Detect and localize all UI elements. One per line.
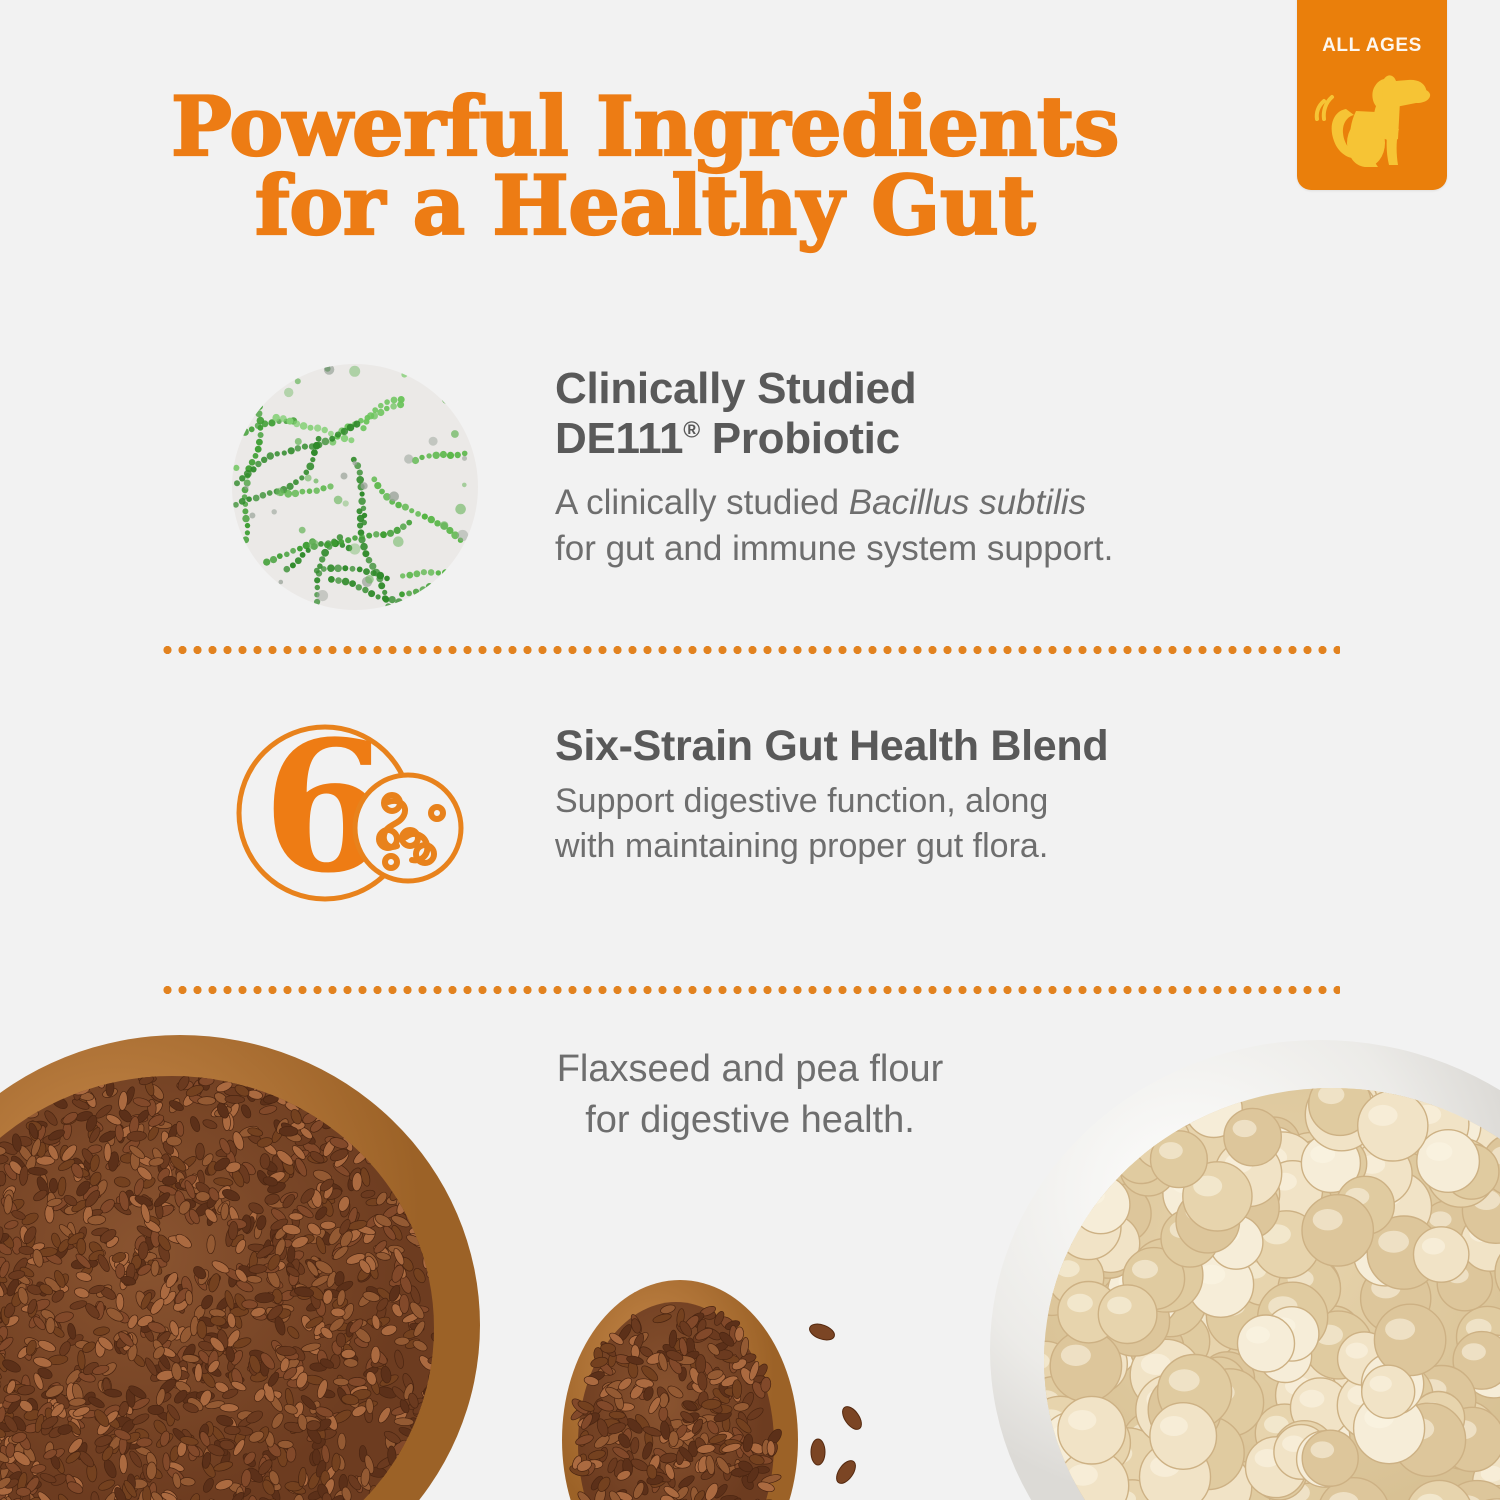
flaxseed-wooden-bowl [0,1035,480,1500]
divider-1 [160,646,1340,654]
ingredient-photo-band [0,1020,1500,1500]
all-ages-label: ALL AGES [1322,36,1422,55]
page-title: Powerful Ingredients for a Healthy Gut [0,88,1290,247]
feature-1-body: A clinically studied Bacillus subtilis f… [555,480,1113,571]
sitting-dog-icon [1312,61,1432,184]
feature-1-title-line-1: Clinically Studied [555,364,916,413]
feature-1-title-line-2-rest: Probiotic [700,414,900,463]
feature-1-text: Clinically Studied DE111® Probiotic A cl… [555,360,1113,571]
registered-trademark-icon: ® [683,417,700,443]
infographic-canvas: ALL AGES [0,0,1500,1500]
flaxseed-wooden-spoon [562,1280,865,1500]
headline-line-2: for a Healthy Gut [0,167,1290,246]
feature-2-title: Six-Strain Gut Health Blend [555,722,1108,771]
feature-six-strain: 6 Six-Strain Gut Health Blend Support di… [155,718,1108,918]
feature-1-title: Clinically Studied DE111® Probiotic [555,364,1113,464]
feature-2-body-line-1: Support digestive function, along [555,782,1048,820]
feature-1-title-line-2: DE111 [555,414,683,463]
feature-1-body-pre: A clinically studied [555,483,849,522]
feature-1-body-species: Bacillus subtilis [849,483,1086,522]
feature-2-text: Six-Strain Gut Health Blend Support dige… [555,718,1108,869]
divider-2 [160,986,1340,994]
feature-2-body-line-2: with maintaining proper gut flora. [555,827,1048,865]
all-ages-badge: ALL AGES [1297,0,1447,190]
chickpea-white-bowl [990,1040,1500,1500]
feature-1-body-line-2: for gut and immune system support. [555,529,1113,568]
feature-clinically-studied: Clinically Studied DE111® Probiotic A cl… [155,360,1113,615]
feature-2-body: Support digestive function, along with m… [555,779,1108,869]
probiotic-microscopy-icon [155,360,555,615]
six-strain-bacteria-icon: 6 [155,718,555,918]
